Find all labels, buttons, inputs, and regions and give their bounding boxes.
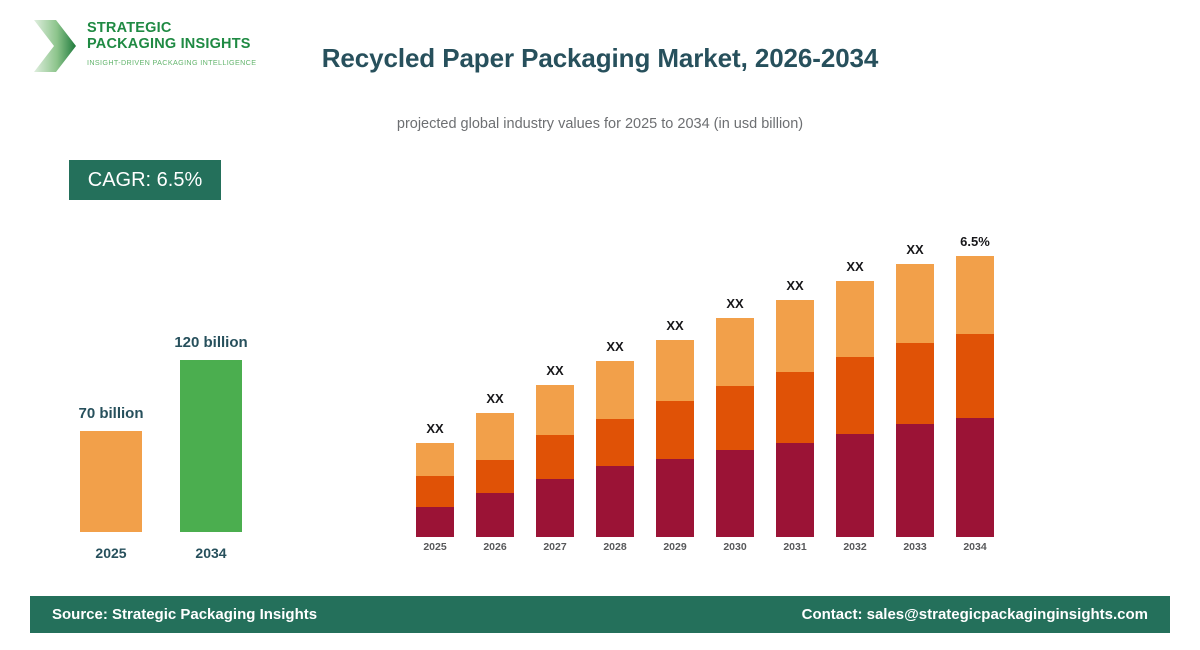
footer-contact: Contact: sales@strategicpackaginginsight… [802,606,1148,623]
stacked-segment-segment-top-2028 [596,361,634,419]
comparison-bar-chart: 70 billion2025120 billion2034 [60,300,310,570]
stacked-year-label-2029: 2029 [656,541,694,553]
stacked-segment-segment-middle-2032 [836,357,874,434]
stacked-segment-segment-top-2033 [896,264,934,343]
footer-source: Source: Strategic Packaging Insights [52,606,317,623]
stacked-segment-segment-bottom-2028 [596,466,634,537]
comparison-bar-fill-2034 [180,360,242,532]
stacked-forecast-bar-chart: XX2025XX2026XX2027XX2028XX2029XX2030XX20… [410,200,1010,560]
stacked-top-label-2034: 6.5% [915,234,1035,249]
stacked-bar-2029: XX2029 [656,340,694,537]
logo-line-1: STRATEGIC [87,21,256,37]
stacked-segment-segment-bottom-2031 [776,443,814,537]
stacked-year-label-2027: 2027 [536,541,574,553]
comparison-value-label-2034: 120 billion [131,334,291,351]
stacked-bar-2028: XX2028 [596,361,634,537]
page-subtitle: projected global industry values for 202… [0,116,1200,132]
stacked-segment-segment-top-2027 [536,385,574,435]
stacked-bar-2030: XX2030 [716,318,754,537]
footer-bar: Source: Strategic Packaging Insights Con… [30,596,1170,633]
stacked-segment-segment-top-2026 [476,413,514,460]
stacked-segment-segment-top-2025 [416,443,454,476]
stacked-segment-segment-bottom-2033 [896,424,934,537]
page-title: Recycled Paper Packaging Market, 2026-20… [0,43,1200,74]
stacked-bar-2033: XX2033 [896,264,934,537]
stacked-segment-segment-bottom-2026 [476,493,514,537]
stacked-segment-segment-middle-2034 [956,334,994,418]
stacked-segment-segment-bottom-2029 [656,459,694,537]
comparison-year-label-2034: 2034 [180,545,242,561]
stacked-segment-segment-bottom-2025 [416,507,454,537]
stacked-year-label-2025: 2025 [416,541,454,553]
stacked-bar-2032: XX2032 [836,281,874,537]
stacked-year-label-2026: 2026 [476,541,514,553]
stacked-segment-segment-middle-2031 [776,372,814,443]
stacked-segment-segment-middle-2029 [656,401,694,459]
stacked-segment-segment-middle-2030 [716,386,754,450]
stacked-segment-segment-top-2030 [716,318,754,386]
stacked-year-label-2032: 2032 [836,541,874,553]
stacked-year-label-2030: 2030 [716,541,754,553]
stacked-year-label-2033: 2033 [896,541,934,553]
stacked-segment-segment-top-2029 [656,340,694,401]
stacked-bar-2027: XX2027 [536,385,574,537]
comparison-bar-fill-2025 [80,431,142,532]
cagr-badge: CAGR: 6.5% [69,160,221,200]
stacked-bar-2026: XX2026 [476,413,514,537]
stacked-year-label-2031: 2031 [776,541,814,553]
comparison-bar-2025: 70 billion2025 [80,431,142,532]
stacked-segment-segment-middle-2033 [896,343,934,424]
stacked-segment-segment-top-2031 [776,300,814,372]
stacked-bar-2025: XX2025 [416,443,454,537]
comparison-year-label-2025: 2025 [80,545,142,561]
stacked-segment-segment-bottom-2027 [536,479,574,537]
stacked-segment-segment-bottom-2030 [716,450,754,537]
comparison-value-label-2025: 70 billion [31,405,191,422]
stacked-segment-segment-bottom-2034 [956,418,994,537]
stacked-year-label-2034: 2034 [956,541,994,553]
comparison-bar-2034: 120 billion2034 [180,360,242,532]
stacked-segment-segment-top-2034 [956,256,994,334]
stacked-bar-2031: XX2031 [776,300,814,537]
stacked-segment-segment-middle-2027 [536,435,574,479]
stacked-bar-2034: 6.5%2034 [956,256,994,537]
stacked-segment-segment-middle-2028 [596,419,634,466]
stacked-segment-segment-middle-2026 [476,460,514,493]
stacked-segment-segment-top-2032 [836,281,874,357]
stacked-segment-segment-bottom-2032 [836,434,874,537]
stacked-year-label-2028: 2028 [596,541,634,553]
stacked-segment-segment-middle-2025 [416,476,454,507]
